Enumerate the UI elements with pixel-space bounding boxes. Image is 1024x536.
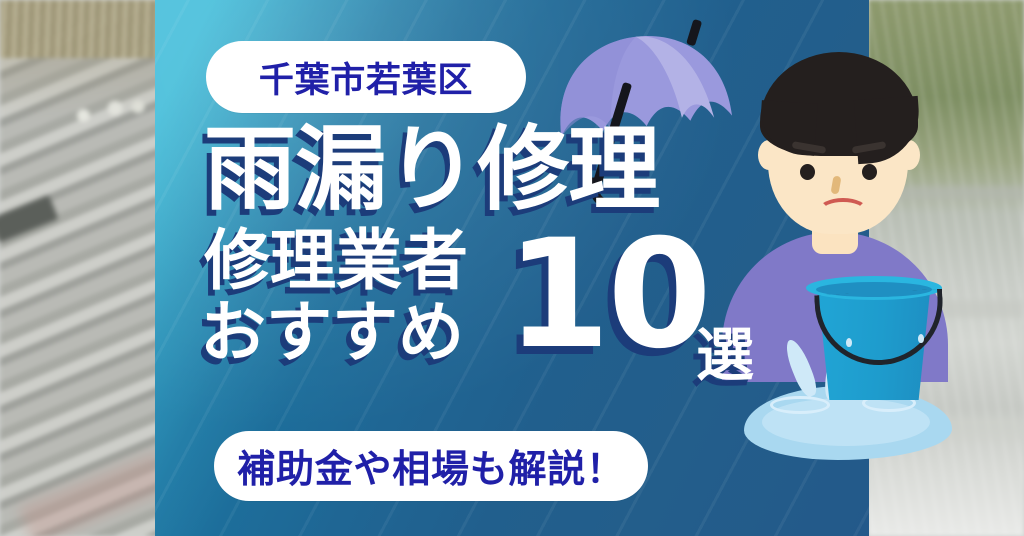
water-ripple-left xyxy=(770,396,830,414)
region-badge-label: 千葉市若葉区 xyxy=(259,52,473,103)
count-number: 10 xyxy=(506,220,709,370)
water-drop-1 xyxy=(846,338,852,347)
roof-photo-dark-chip xyxy=(0,195,59,243)
roof-photo-tint xyxy=(18,451,172,536)
count-unit: 選 xyxy=(696,326,754,384)
headline-sub-row: 修理業者 おすすめ 10 選 xyxy=(196,230,796,318)
water-drop-2 xyxy=(918,334,924,343)
roof-photo-debris xyxy=(47,69,156,147)
person-frown-mouth xyxy=(818,198,868,224)
headline-sub-line-1: 修理業者 xyxy=(204,228,468,294)
banner-image: 千葉市若葉区 雨漏り修理 修理業者 おすすめ 10 選 補助金や相場も解説！ xyxy=(0,0,1024,536)
headline-main: 雨漏り修理 xyxy=(204,124,796,216)
headline-block: 雨漏り修理 修理業者 おすすめ 10 選 xyxy=(196,124,796,318)
region-badge: 千葉市若葉区 xyxy=(206,41,526,113)
headline-sub-line-2: おすすめ xyxy=(200,300,464,366)
footer-badge-label: 補助金や相場も解説！ xyxy=(237,438,625,493)
person-eye-left xyxy=(800,164,815,180)
footer-badge: 補助金や相場も解説！ xyxy=(214,431,648,501)
person-eye-right xyxy=(862,164,877,180)
